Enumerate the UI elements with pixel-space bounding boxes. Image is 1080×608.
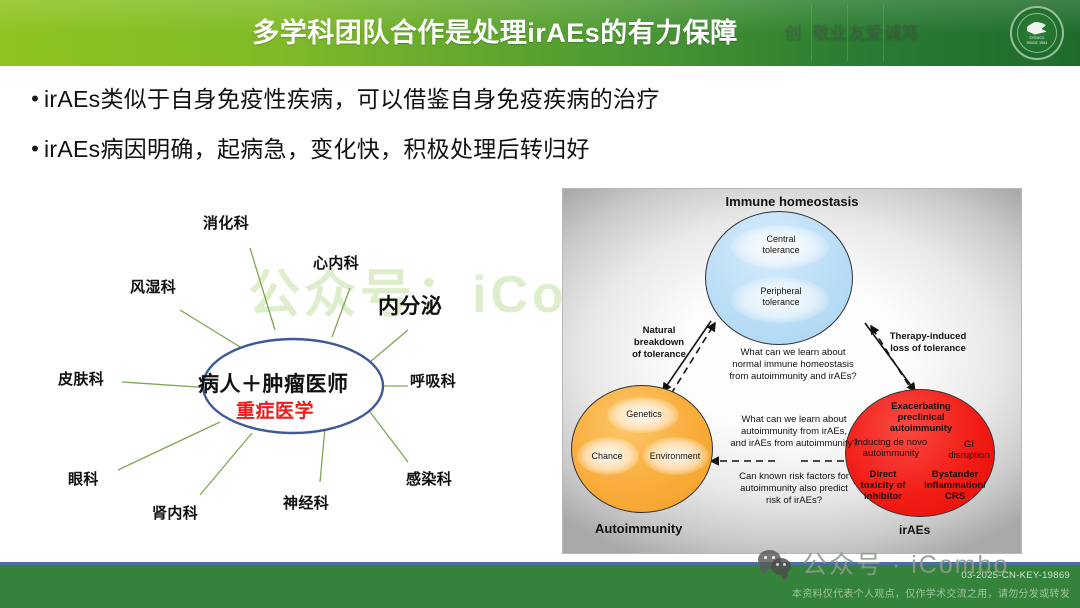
specialty-spider-diagram: 病人＋肿瘤医师 重症医学 消化科 心内科 内分泌 风湿科 皮肤科 眼科 肾内科 …: [40, 190, 560, 550]
logo-since: SINCE 1964: [1027, 41, 1048, 45]
label-central-tolerance: Central tolerance: [741, 234, 821, 256]
title-bar: 多学科团队合作是处理irAEs的有力保障 创 敬业 友爱 诚笃 SYSUCC S…: [0, 0, 1080, 66]
calligraphy-char-3: 友爱: [847, 5, 883, 61]
sysucc-logo: SYSUCC SINCE 1964: [1010, 6, 1064, 60]
spoke-label-rheumatology: 风湿科: [130, 276, 176, 297]
calligraphy-char-1: 创: [775, 5, 811, 61]
footer-code: 03-2025-CN-KEY-19869: [961, 570, 1070, 581]
calligraphy-char-4: 诚笃: [883, 5, 919, 61]
spoke-label-endocrinology: 内分泌: [378, 290, 442, 320]
logo-inner-ring: SYSUCC SINCE 1964: [1017, 13, 1057, 53]
label-bystander-inflammation: Bystander inflammation/ CRS: [915, 469, 995, 502]
spoke-label-ophthalmology: 眼科: [68, 468, 99, 489]
wechat-eye: [764, 556, 767, 559]
page-title: 多学科团队合作是处理irAEs的有力保障: [180, 14, 810, 52]
bullet-item: • irAEs病因明确，起病急，变化快，积极处理后转归好: [26, 132, 866, 166]
logo-swoosh-icon: [1027, 22, 1047, 35]
immune-homeostasis-figure: Immune homeostasis Central: [562, 188, 1022, 554]
spoke-label-infectious: 感染科: [406, 468, 452, 489]
label-natural-breakdown: Natural breakdown of tolerance: [611, 325, 707, 361]
logo-abbr: SYSUCC: [1029, 36, 1044, 40]
wechat-eye: [772, 556, 775, 559]
bullet-dot-icon: •: [26, 82, 44, 116]
center-label-main: 病人＋肿瘤医师: [198, 368, 349, 398]
slide: 多学科团队合作是处理irAEs的有力保障 创 敬业 友爱 诚笃 SYSUCC S…: [0, 0, 1080, 608]
label-chance: Chance: [577, 451, 637, 462]
bullet-item: • irAEs类似于自身免疫性疾病，可以借鉴自身免疫疾病的治疗: [26, 82, 866, 116]
center-label-sub: 重症医学: [236, 396, 314, 423]
question-text-1: What can we learn about normal immune ho…: [698, 347, 888, 383]
spoke-label-cardiology: 心内科: [313, 252, 359, 273]
spoke-label-gastroenterology: 消化科: [203, 212, 249, 233]
label-gi-disruption: GI disruption: [941, 439, 997, 461]
label-iraes: irAEs: [899, 523, 930, 537]
bullet-dot-icon: •: [26, 132, 44, 166]
spoke-label-nephrology: 肾内科: [152, 502, 198, 523]
label-peripheral-tolerance: Peripheral tolerance: [741, 286, 821, 308]
spoke-label-respiratory: 呼吸科: [410, 370, 456, 391]
bullet-list: • irAEs类似于自身免疫性疾病，可以借鉴自身免疫疾病的治疗 • irAEs病…: [26, 82, 866, 182]
spoke-label-dermatology: 皮肤科: [58, 368, 104, 389]
footer-disclaimer: 本资料仅代表个人观点，仅作学术交流之用，请勿分发或转发: [792, 585, 1070, 600]
spoke-label-neurology: 神经科: [283, 492, 329, 513]
bullet-text: irAEs病因明确，起病急，变化快，积极处理后转归好: [44, 132, 590, 166]
calligraphy-char-2: 敬业: [811, 5, 847, 61]
calligraphy-group: 创 敬业 友爱 诚笃: [775, 4, 919, 62]
label-genetics: Genetics: [609, 409, 679, 420]
question-text-3: Can known risk factors for autoimmunity …: [703, 471, 885, 507]
label-environment: Environment: [641, 451, 709, 462]
footer-bar: 03-2025-CN-KEY-19869 本资料仅代表个人观点，仅作学术交流之用…: [0, 562, 1080, 608]
label-autoimmunity: Autoimmunity: [595, 521, 682, 536]
bullet-text: irAEs类似于自身免疫性疾病，可以借鉴自身免疫疾病的治疗: [44, 82, 660, 116]
question-text-2: What can we learn about autoimmunity fro…: [701, 414, 887, 450]
